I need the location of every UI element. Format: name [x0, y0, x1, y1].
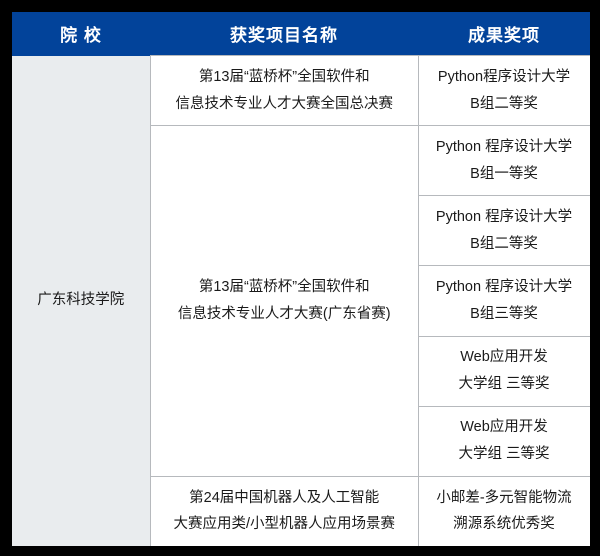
- column-header-school: 院 校: [12, 12, 150, 56]
- project-line-2: 信息技术专业人才大赛(广东省赛): [157, 301, 413, 328]
- cell-award-name: Python 程序设计大学 B组一等奖: [418, 126, 590, 196]
- award-line-1: Python 程序设计大学: [424, 204, 584, 231]
- award-line-2: 大学组 三等奖: [424, 441, 584, 468]
- project-line-2: 大赛应用类/小型机器人应用场景赛: [157, 511, 413, 538]
- cell-award-name: Python程序设计大学 B组二等奖: [418, 56, 590, 126]
- cell-award-name: Python 程序设计大学 B组二等奖: [418, 196, 590, 266]
- cell-award-name: Web应用开发 大学组 三等奖: [418, 336, 590, 406]
- cell-award-name: Web应用开发 大学组 三等奖: [418, 406, 590, 476]
- table-head: 院 校 获奖项目名称 成果奖项: [12, 12, 590, 56]
- cell-project-name: 第24届中国机器人及人工智能 大赛应用类/小型机器人应用场景赛: [150, 476, 418, 546]
- column-divider-project-award: [418, 55, 419, 546]
- award-line-1: Python 程序设计大学: [424, 274, 584, 301]
- cell-school-name: 广东科技学院: [12, 56, 150, 547]
- column-header-project: 获奖项目名称: [150, 12, 418, 56]
- cell-award-name: 小邮差-多元智能物流 溯源系统优秀奖: [418, 476, 590, 546]
- cell-project-name: 第13届“蓝桥杯”全国软件和 信息技术专业人才大赛全国总决赛: [150, 56, 418, 126]
- award-line-1: Web应用开发: [424, 414, 584, 441]
- school-name-text: 广东科技学院: [18, 287, 144, 314]
- project-line-1: 第24届中国机器人及人工智能: [157, 485, 413, 512]
- award-line-1: Python 程序设计大学: [424, 134, 584, 161]
- table-header-row: 院 校 获奖项目名称 成果奖项: [12, 12, 590, 56]
- award-line-2: 溯源系统优秀奖: [424, 511, 584, 538]
- cell-project-name: 第13届“蓝桥杯”全国软件和 信息技术专业人才大赛(广东省赛): [150, 126, 418, 477]
- award-line-1: Python程序设计大学: [424, 64, 584, 91]
- project-line-1: 第13届“蓝桥杯”全国软件和: [157, 274, 413, 301]
- screenshot-canvas: 院 校 获奖项目名称 成果奖项 广东科技学院 第13届“蓝桥杯”全国软件和 信息…: [0, 0, 600, 556]
- table-row: 广东科技学院 第13届“蓝桥杯”全国软件和 信息技术专业人才大赛全国总决赛 Py…: [12, 56, 590, 126]
- cell-award-name: Python 程序设计大学 B组三等奖: [418, 266, 590, 336]
- award-table: 院 校 获奖项目名称 成果奖项 广东科技学院 第13届“蓝桥杯”全国软件和 信息…: [12, 12, 590, 546]
- award-line-2: 大学组 三等奖: [424, 371, 584, 398]
- project-line-2: 信息技术专业人才大赛全国总决赛: [157, 91, 413, 118]
- column-header-award: 成果奖项: [418, 12, 590, 56]
- award-line-2: B组一等奖: [424, 161, 584, 188]
- award-line-2: B组三等奖: [424, 301, 584, 328]
- award-line-2: B组二等奖: [424, 231, 584, 258]
- award-line-1: 小邮差-多元智能物流: [424, 485, 584, 512]
- project-line-1: 第13届“蓝桥杯”全国软件和: [157, 64, 413, 91]
- table-body: 广东科技学院 第13届“蓝桥杯”全国软件和 信息技术专业人才大赛全国总决赛 Py…: [12, 56, 590, 547]
- column-divider-school-project: [150, 55, 151, 546]
- award-line-1: Web应用开发: [424, 344, 584, 371]
- award-line-2: B组二等奖: [424, 91, 584, 118]
- award-table-container: 院 校 获奖项目名称 成果奖项 广东科技学院 第13届“蓝桥杯”全国软件和 信息…: [12, 12, 590, 546]
